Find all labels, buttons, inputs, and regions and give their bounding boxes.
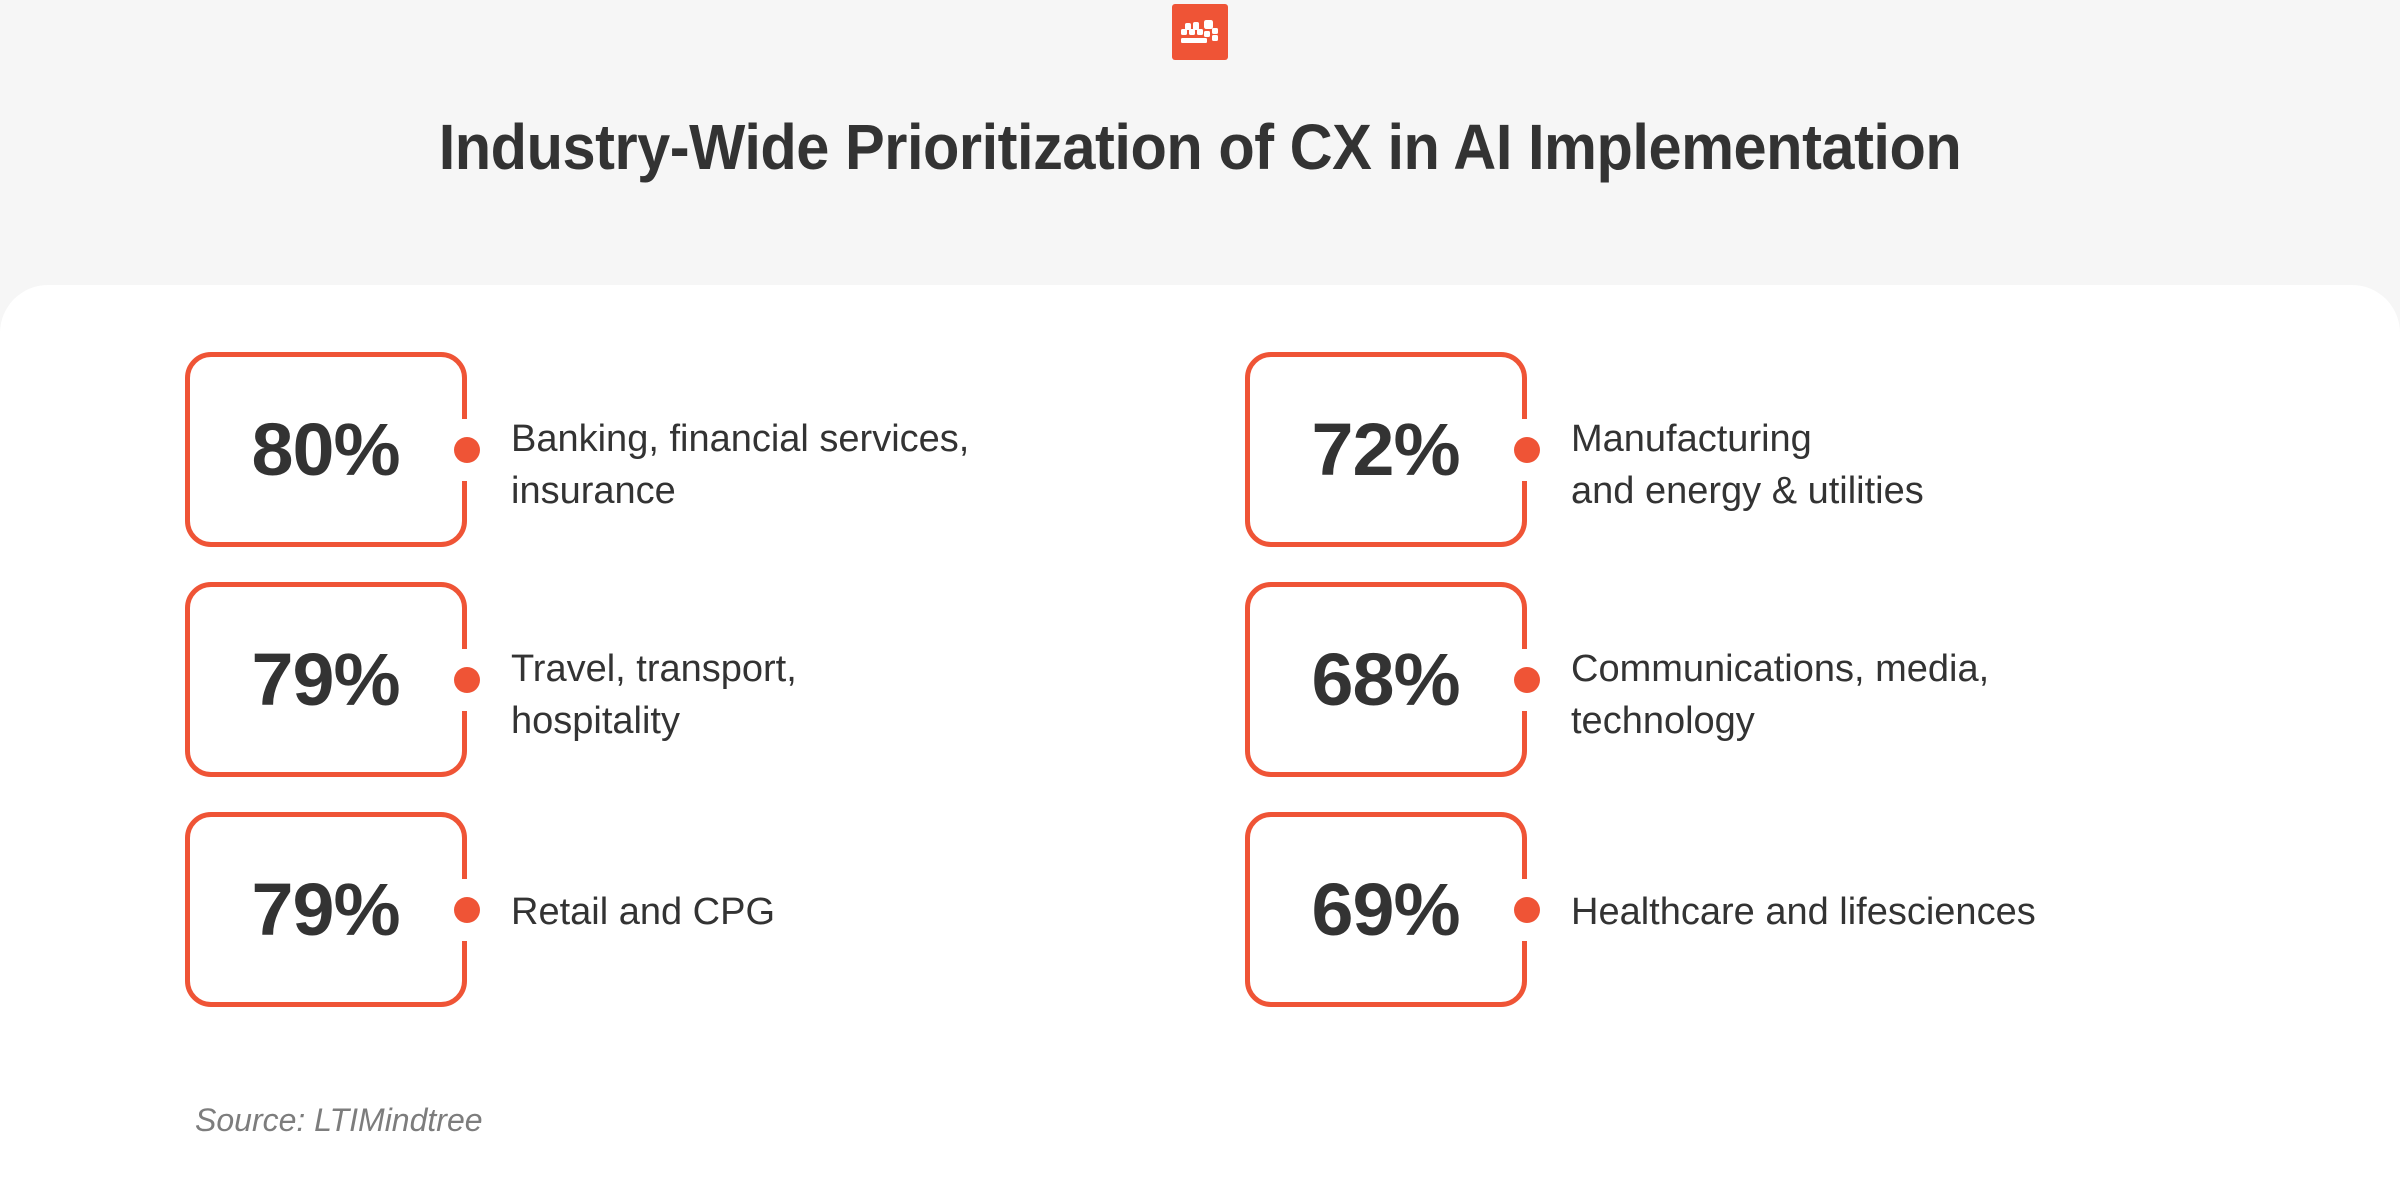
stat-value: 68% [1312, 643, 1460, 717]
stat-connector-dot-icon [1514, 667, 1540, 693]
stat-value: 79% [252, 873, 400, 947]
stat-value: 79% [252, 643, 400, 717]
stat-card: 72% [1245, 352, 1527, 547]
stat-row: 69% Healthcare and lifesciences [1245, 812, 2245, 1007]
stat-connector-dot-icon [454, 897, 480, 923]
stat-label: Retail and CPG [511, 886, 775, 938]
stat-value: 72% [1312, 413, 1460, 487]
stat-connector-dot-icon [1514, 437, 1540, 463]
stat-row: 79% Travel, transport, hospitality [185, 582, 1245, 777]
stat-connector-dot-icon [454, 667, 480, 693]
stat-row: 68% Communications, media, technology [1245, 582, 2245, 777]
stat-row: 80% Banking, financial services, insuran… [185, 352, 1245, 547]
stat-card: 68% [1245, 582, 1527, 777]
stat-value: 69% [1312, 873, 1460, 947]
stat-label: Travel, transport, hospitality [511, 643, 797, 747]
stat-row: 72% Manufacturing and energy & utilities [1245, 352, 2245, 547]
stat-label: Healthcare and lifesciences [1571, 886, 2036, 938]
stat-card: 79% [185, 582, 467, 777]
stat-value: 80% [252, 413, 400, 487]
source-attribution: Source: LTIMindtree [195, 1101, 483, 1139]
stat-card: 69% [1245, 812, 1527, 1007]
content-panel: 80% Banking, financial services, insuran… [0, 285, 2400, 1182]
stat-connector-dot-icon [1514, 897, 1540, 923]
stat-row: 79% Retail and CPG [185, 812, 1245, 1007]
stats-grid: 80% Banking, financial services, insuran… [185, 352, 2245, 1042]
stat-card: 79% [185, 812, 467, 1007]
stat-label: Communications, media, technology [1571, 643, 1989, 747]
page-title: Industry-Wide Prioritization of CX in AI… [84, 110, 2316, 184]
ltimindtree-logo-icon [1172, 4, 1228, 60]
stat-label: Banking, financial services, insurance [511, 413, 969, 517]
stat-card: 80% [185, 352, 467, 547]
header-band: Industry-Wide Prioritization of CX in AI… [0, 0, 2400, 285]
stat-label: Manufacturing and energy & utilities [1571, 413, 1924, 517]
stat-connector-dot-icon [454, 437, 480, 463]
